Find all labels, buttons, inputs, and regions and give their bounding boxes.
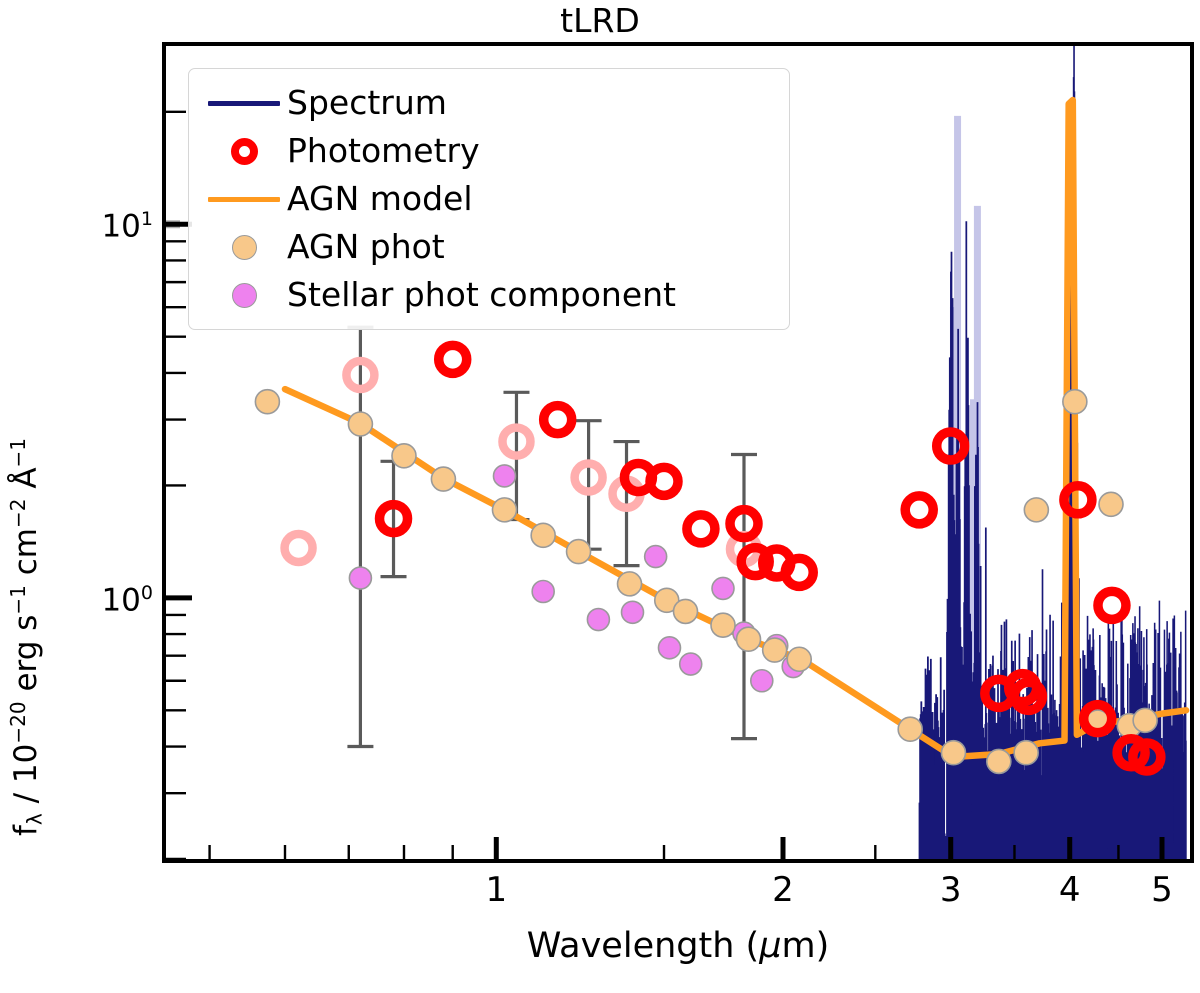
data-point [1133,708,1157,732]
data-point [532,580,554,602]
legend-item-agn-phot[interactable]: AGN phot [201,223,777,271]
x-axis-title: Wavelength (μm) [162,926,1194,966]
legend-item-photometry[interactable]: Photometry [201,127,777,175]
data-point [987,749,1011,773]
data-point [785,558,813,586]
legend-item-spectrum[interactable]: Spectrum [201,79,777,127]
y-tick-label: 100 [55,576,153,617]
data-point [567,540,591,564]
legend-line-swatch [208,101,280,106]
data-point [898,717,922,741]
data-point [618,572,642,596]
legend-label: AGN model [287,181,473,217]
data-point [348,412,372,436]
data-point [285,534,313,562]
stellar-phot-component-points [349,465,804,692]
data-point [531,523,555,547]
x-tick-label: 5 [1132,872,1192,908]
data-point [431,467,455,491]
x-tick-label: 2 [753,872,813,908]
figure-canvas: tLRD 12345 100101 Wavelength (μm) fλ / 1… [0,0,1200,993]
legend-label: AGN phot [287,229,445,265]
data-point [622,601,644,623]
photometry-points [380,345,1161,771]
data-point [787,647,811,671]
y-axis-title: fλ / 10−20 erg s−1 cm−2 Å−1 [6,438,47,836]
data-point [1024,498,1048,522]
data-point [1063,390,1087,414]
data-point [392,444,416,468]
chart-legend: SpectrumPhotometryAGN modelAGN photStell… [188,68,790,330]
data-point [349,567,371,589]
data-point [1099,492,1123,516]
legend-ring-swatch [231,138,258,165]
legend-label: Photometry [287,133,480,169]
y-tick-label: 101 [55,202,153,243]
data-point [712,577,734,599]
edge-marker [166,220,180,228]
legend-dot-swatch [232,235,257,260]
data-point [763,638,787,662]
data-point [941,741,965,765]
data-point [687,515,715,543]
legend-item-agn-model[interactable]: AGN model [201,175,777,223]
data-point [255,390,279,414]
data-point [587,609,609,631]
legend-item-stellar-phot-component[interactable]: Stellar phot component [201,271,777,319]
data-point [737,627,761,651]
data-point [680,653,702,675]
legend-label: Spectrum [287,85,447,121]
data-point [439,345,467,373]
data-point [650,467,678,495]
data-point [658,637,680,659]
data-point [492,498,516,522]
data-point [711,613,735,637]
data-point [673,599,697,623]
chart-title: tLRD [0,2,1200,40]
legend-line-swatch [208,197,280,202]
legend-label: Stellar phot component [287,277,676,313]
data-point [645,546,667,568]
data-point [1014,741,1038,765]
data-point [544,406,572,434]
legend-dot-swatch [232,283,257,308]
x-tick-label: 1 [466,872,526,908]
x-tick-label: 3 [921,872,981,908]
data-point [751,670,773,692]
data-point [493,465,515,487]
x-tick-label: 4 [1040,872,1100,908]
data-point [905,496,933,524]
data-point [1098,591,1126,619]
